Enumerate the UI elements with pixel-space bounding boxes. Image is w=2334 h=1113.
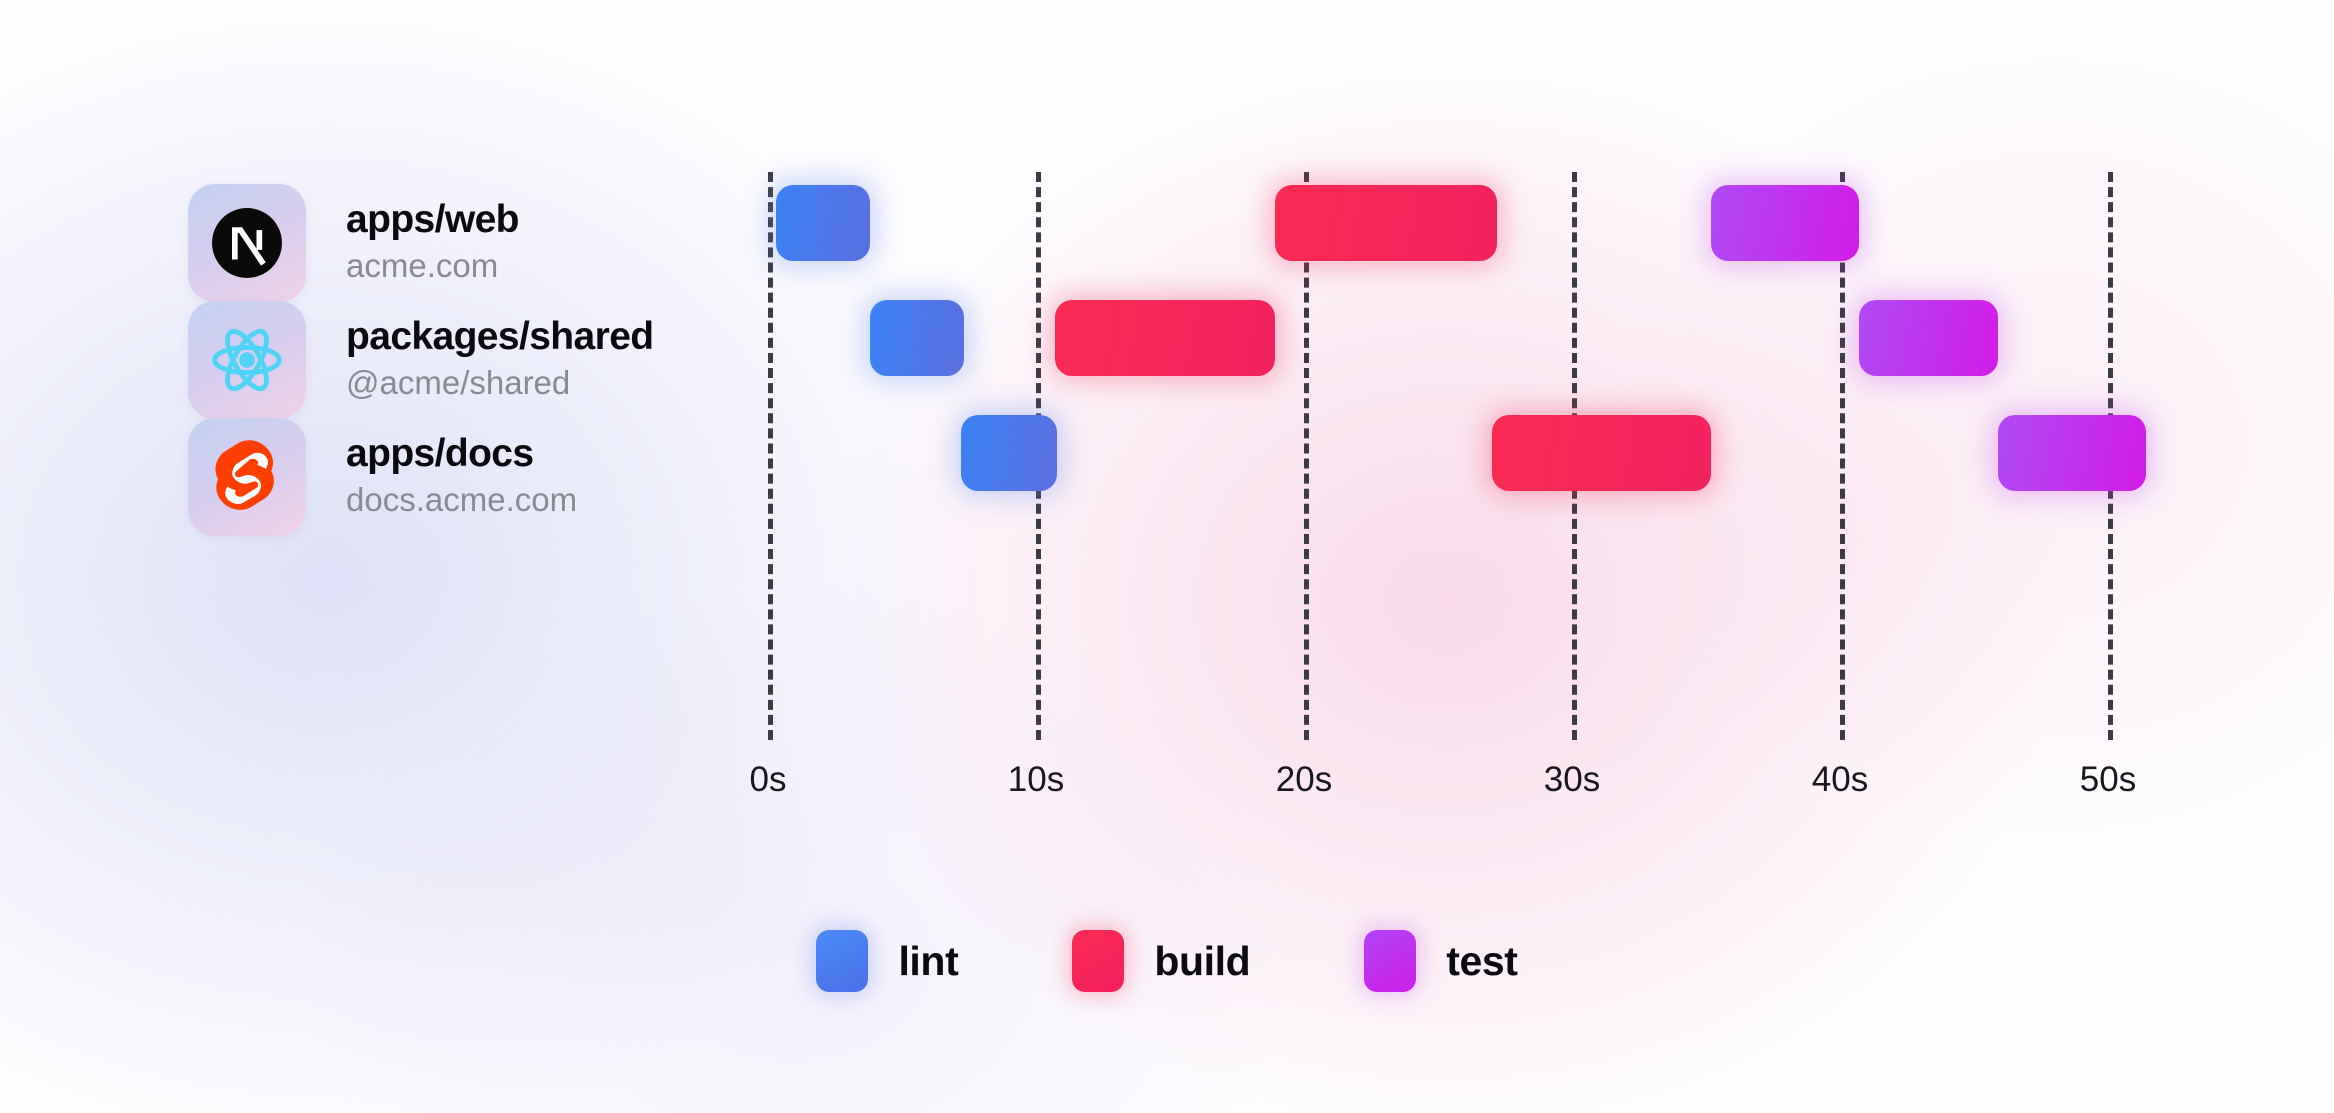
task-bar-test-apps-web[interactable] <box>1711 185 1858 261</box>
legend-item-test[interactable]: test <box>1364 930 1517 992</box>
legend-item-build[interactable]: build <box>1072 930 1250 992</box>
legend-swatch-lint <box>816 930 868 992</box>
task-bar-test-apps-docs[interactable] <box>1998 415 2145 491</box>
legend-item-lint[interactable]: lint <box>816 930 958 992</box>
task-bar-lint-apps-docs[interactable] <box>961 415 1057 491</box>
task-bar-lint-packages-shared[interactable] <box>870 300 964 376</box>
legend-label: test <box>1446 938 1517 985</box>
chart-legend: lint build test <box>0 930 2334 992</box>
task-bar-lint-apps-web[interactable] <box>776 185 870 261</box>
timeline-visualization: 0s10s20s30s40s50s apps/web acme.com <box>0 0 2334 1113</box>
legend-swatch-build <box>1072 930 1124 992</box>
legend-label: build <box>1154 938 1250 985</box>
task-bar-build-apps-web[interactable] <box>1275 185 1497 261</box>
task-bar-build-packages-shared[interactable] <box>1055 300 1275 376</box>
task-bar-test-packages-shared[interactable] <box>1859 300 1998 376</box>
task-bar-build-apps-docs[interactable] <box>1492 415 1712 491</box>
legend-swatch-test <box>1364 930 1416 992</box>
legend-label: lint <box>898 938 958 985</box>
